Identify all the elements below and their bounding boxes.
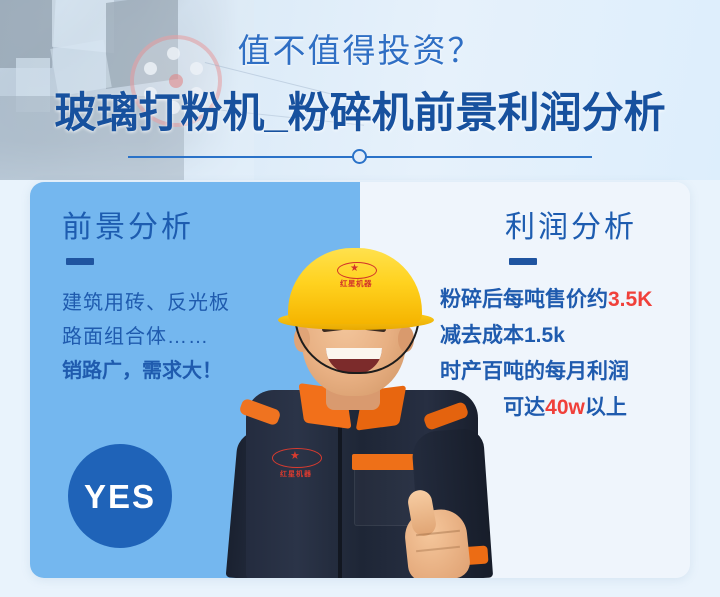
list-item-text: 以上 (585, 396, 627, 419)
title-underline-bar (66, 258, 94, 265)
yes-badge-left: YES (68, 444, 172, 548)
worker-photo: ★ 红星机器 ★ 红星机器 (210, 218, 530, 578)
uniform-logo-label: 红星机器 (268, 462, 324, 488)
helmet-badge-label: 红星机器 (330, 278, 382, 289)
helmet-badge: ★ 红星机器 (330, 262, 382, 292)
header-subtitle: 值不值得投资？ (0, 32, 720, 70)
header-section: 值不值得投资？ 玻璃打粉机_粉碎机前景利润分析 (0, 0, 720, 180)
worker-jacket-placket (338, 414, 342, 578)
uniform-logo: ★ 红星机器 (268, 446, 324, 472)
promo-banner: 值不值得投资？ 玻璃打粉机_粉碎机前景利润分析 前景分析 建筑用砖、反光板 路面… (0, 0, 720, 597)
header-divider (128, 156, 592, 158)
highlight-value: 40w (545, 396, 585, 419)
highlight-value: 3.5K (608, 288, 652, 311)
panel-left-title: 前景分析 (62, 210, 194, 246)
star-icon: ★ (290, 451, 300, 462)
page-title: 玻璃打粉机_粉碎机前景利润分析 (0, 88, 720, 138)
analysis-card: 前景分析 建筑用砖、反光板 路面组合体…… 销路广，需求大！ YES 利润分析 … (30, 182, 690, 578)
flywheel-hub-icon (169, 74, 183, 88)
yes-badge-left-label: YES (84, 480, 156, 513)
circle-node-icon (352, 149, 367, 164)
star-icon: ★ (350, 263, 359, 275)
